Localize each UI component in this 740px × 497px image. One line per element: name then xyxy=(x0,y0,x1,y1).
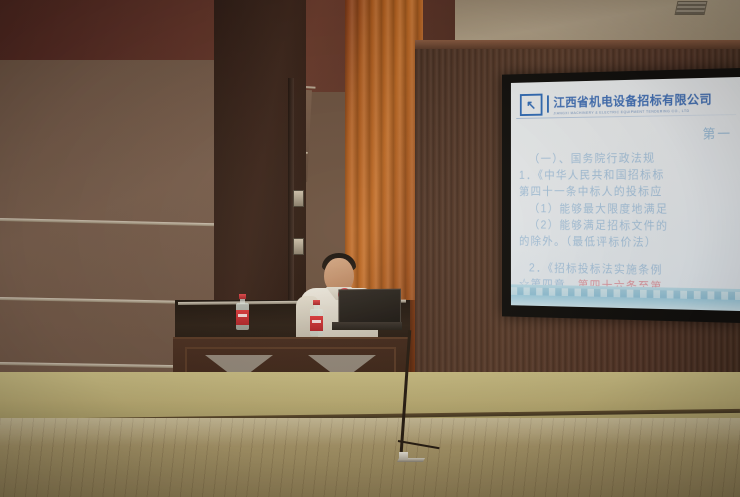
water-bottle-left[interactable] xyxy=(236,294,249,330)
wood-wall-trim xyxy=(415,40,740,49)
bottle-label xyxy=(236,310,249,325)
photo-scene: ↖ 江西省机电设备招标有限公司 JIANGXI MACHINERY & ELEC… xyxy=(0,0,740,497)
company-name-cn: 江西省机电设备招标有限公司 xyxy=(553,89,712,111)
slide-footer-band xyxy=(511,284,740,311)
logo-separator xyxy=(547,95,549,112)
door-edge xyxy=(288,78,294,338)
mic-base-box xyxy=(399,452,408,460)
slide-title: 第一 xyxy=(703,123,732,142)
slide-line-3: 第四十一条中标人的投标应 xyxy=(519,185,740,200)
slide-header: ↖ 江西省机电设备招标有限公司 JIANGXI MACHINERY & ELEC… xyxy=(511,87,740,117)
projection-screen-frame: ↖ 江西省机电设备招标有限公司 JIANGXI MACHINERY & ELEC… xyxy=(502,68,740,323)
door-hinge-upper-icon xyxy=(293,190,304,207)
slide-line-5: （2）能够满足招标文件的 xyxy=(519,219,740,235)
slide-line-7: 2．《招标投标法实施条例 xyxy=(519,262,740,281)
air-vent-icon xyxy=(675,1,708,15)
slide-line-2: 1．《中华人民共和国招标标 xyxy=(519,168,740,184)
slide-line-4: （1）能够最大限度地满足 xyxy=(519,202,740,218)
slide-body: （一）、国务院行政法规1．《中华人民共和国招标标第四十一条中标人的投标应（1）能… xyxy=(519,151,740,297)
company-logo-icon: ↖ xyxy=(520,93,543,115)
laptop-base[interactable] xyxy=(332,322,402,330)
floor-reflection xyxy=(0,418,740,446)
slide-line-1: （一）、国务院行政法规 xyxy=(519,151,740,168)
bottle-label xyxy=(310,316,323,331)
floor-mic-base[interactable] xyxy=(398,452,424,464)
projection-screen-surface: ↖ 江西省机电设备招标有限公司 JIANGXI MACHINERY & ELEC… xyxy=(511,77,740,311)
slide-line-6: 的除外。（最低评标价法） xyxy=(519,235,740,252)
water-bottle-right[interactable] xyxy=(310,300,323,336)
company-name-block: 江西省机电设备招标有限公司 JIANGXI MACHINERY & ELECTR… xyxy=(553,89,712,116)
